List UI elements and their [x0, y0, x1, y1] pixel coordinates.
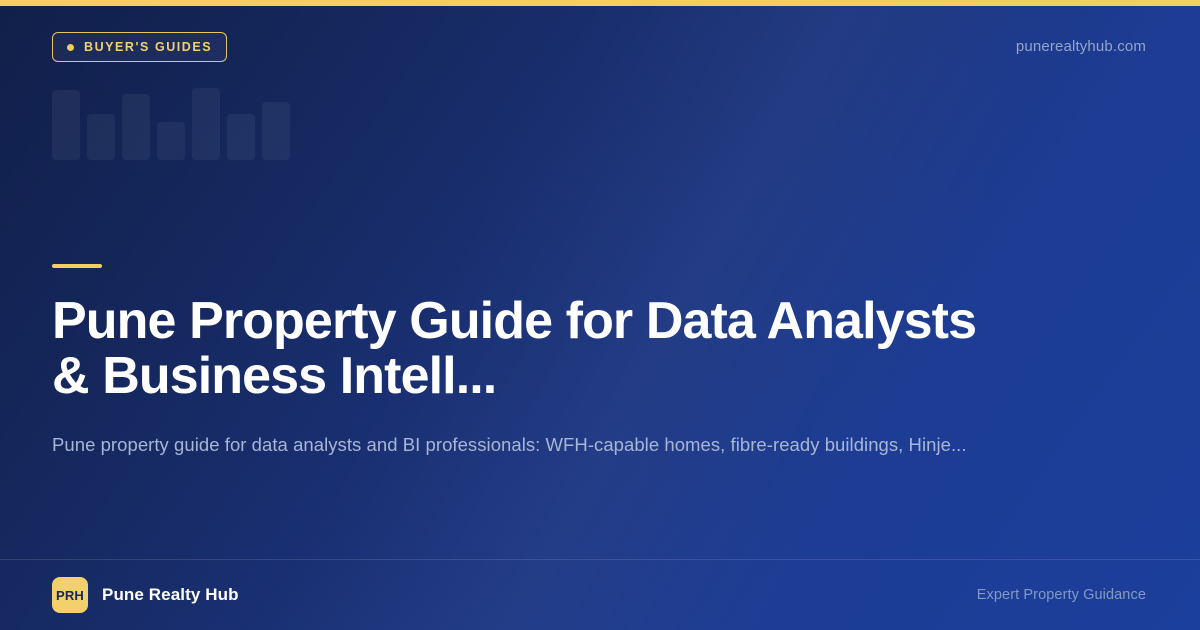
category-badge-label: BUYER'S GUIDES — [84, 40, 212, 54]
decor-bar — [262, 102, 290, 160]
hero-section: Pune Property Guide for Data Analysts & … — [52, 264, 1052, 459]
site-url: punerealtyhub.com — [1016, 38, 1146, 55]
bar-chart-decoration — [52, 82, 302, 160]
decor-bar — [87, 114, 115, 160]
brand[interactable]: PRH Pune Realty Hub — [52, 577, 239, 613]
footer: PRH Pune Realty Hub Expert Property Guid… — [0, 560, 1200, 630]
decor-bar — [192, 88, 220, 160]
decor-bar — [52, 90, 80, 160]
page-subtitle: Pune property guide for data analysts an… — [52, 432, 1052, 459]
decor-bar — [157, 122, 185, 160]
top-accent-bar — [0, 0, 1200, 6]
og-share-card: BUYER'S GUIDES punerealtyhub.com Pune Pr… — [0, 0, 1200, 630]
brand-logo-icon: PRH — [52, 577, 88, 613]
footer-tagline: Expert Property Guidance — [977, 587, 1146, 603]
dot-icon — [67, 44, 74, 51]
page-title: Pune Property Guide for Data Analysts & … — [52, 294, 1012, 404]
brand-name: Pune Realty Hub — [102, 585, 239, 605]
category-badge[interactable]: BUYER'S GUIDES — [52, 32, 227, 62]
gold-rule — [52, 264, 102, 268]
decor-bar — [122, 94, 150, 160]
decor-bar — [227, 114, 255, 160]
